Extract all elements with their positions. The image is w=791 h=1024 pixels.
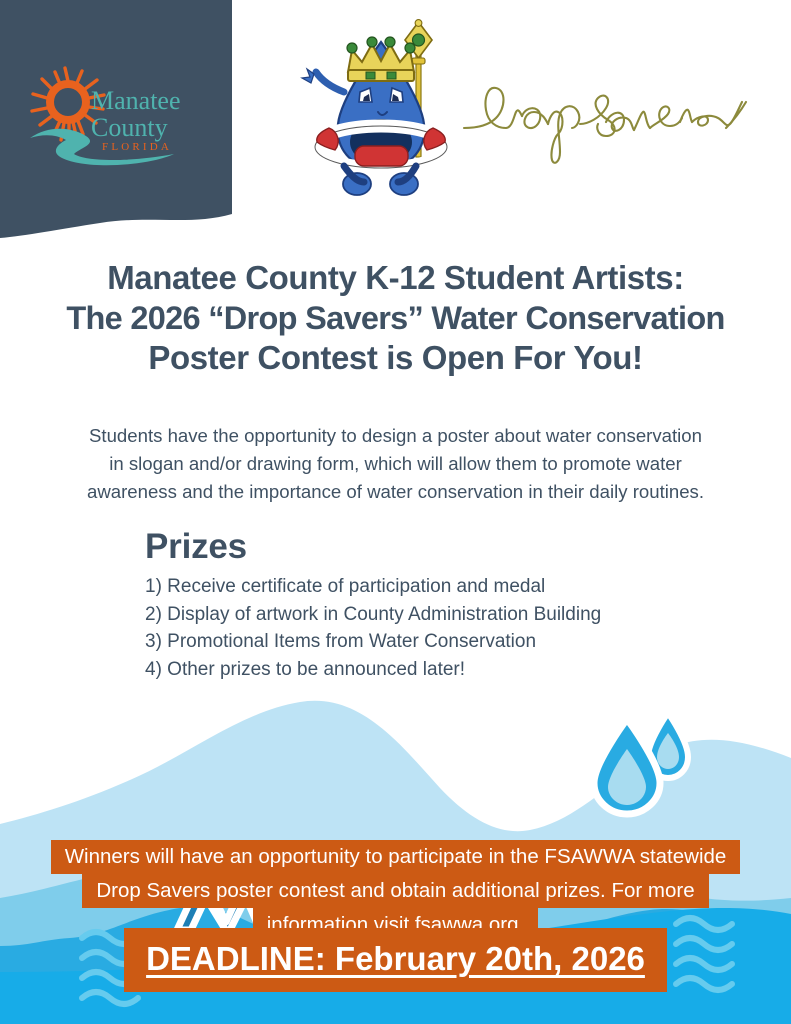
logo-name-line1: Manatee [91, 86, 181, 115]
list-item: 3) Promotional Items from Water Conserva… [145, 628, 601, 656]
intro-line-3: awareness and the importance of water co… [44, 478, 747, 506]
deadline-banner: DEADLINE: February 20th, 2026 [0, 928, 791, 992]
intro-paragraph: Students have the opportunity to design … [44, 422, 747, 506]
banner-line-1: Winners will have an opportunity to part… [51, 840, 741, 874]
headline-line-1: Manatee County K-12 Student Artists: [14, 258, 777, 298]
page-title: Manatee County K-12 Student Artists: The… [0, 258, 791, 378]
droplet-large [594, 719, 660, 814]
intro-line-1: Students have the opportunity to design … [44, 422, 747, 450]
list-item: 1) Receive certificate of participation … [145, 573, 601, 601]
list-item: 4) Other prizes to be announced later! [145, 656, 601, 684]
headline-line-3: Poster Contest is Open For You! [14, 338, 777, 378]
banner-line-2: Drop Savers poster contest and obtain ad… [82, 874, 708, 908]
drop-savers-mascot-icon [286, 14, 476, 206]
poster-canvas: Manatee County FLORIDA [0, 0, 791, 1024]
fsawwa-info-banner: Winners will have an opportunity to part… [0, 840, 791, 942]
prizes-list: 1) Receive certificate of participation … [145, 573, 601, 683]
manatee-county-logo: Manatee County FLORIDA [28, 66, 193, 171]
headline-line-2: The 2026 “Drop Savers” Water Conservatio… [14, 298, 777, 338]
deadline-box: DEADLINE: February 20th, 2026 [124, 928, 667, 992]
drop-savers-wordmark [462, 66, 752, 171]
deadline-text: DEADLINE: February 20th, 2026 [146, 940, 645, 977]
list-item: 2) Display of artwork in County Administ… [145, 601, 601, 629]
prizes-section: Prizes 1) Receive certificate of partici… [145, 526, 601, 683]
water-droplets-icon [586, 705, 706, 823]
intro-line-2: in slogan and/or drawing form, which wil… [44, 450, 747, 478]
logo-name-line2: County [91, 113, 168, 142]
logo-state: FLORIDA [102, 141, 172, 153]
life-preserver-icon [315, 126, 447, 168]
prizes-heading: Prizes [145, 526, 601, 568]
